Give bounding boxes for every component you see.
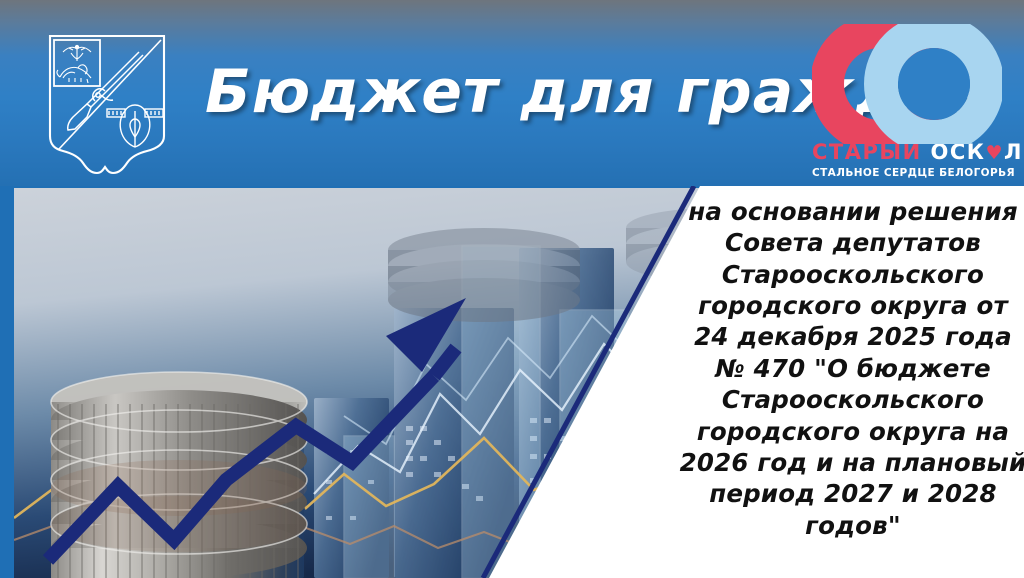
brand-wordmark: СТАРЫЙ ОСК♥Л	[812, 142, 1002, 163]
brand-logo: СТАРЫЙ ОСК♥Л СТАЛЬНОЕ СЕРДЦЕ БЕЛОГОРЬЯ	[812, 24, 1002, 179]
brand-tagline: СТАЛЬНОЕ СЕРДЦЕ БЕЛОГОРЬЯ	[812, 167, 1002, 179]
decree-line: Совета депутатов	[725, 227, 981, 258]
page-title: Бюджет для граждан	[205, 46, 825, 138]
decree-line: 24 декабря 2025 года	[694, 321, 1012, 352]
brand-rings-icon	[812, 24, 1002, 144]
decree-line: годов"	[805, 510, 901, 541]
decree-line: № 470 "О бюджете	[715, 353, 991, 384]
coat-of-arms-icon	[47, 33, 167, 183]
left-margin-strip	[0, 186, 14, 578]
decree-line: период 2027 и 2028	[709, 478, 997, 509]
poster-header: Бюджет для граждан СТАРЫЙ ОСК♥Л СТАЛЬНОЕ…	[0, 0, 1024, 186]
decree-line: на основании решения	[688, 196, 1018, 227]
brand-word-right-b: Л	[1004, 140, 1023, 164]
decree-line: городского округа на	[697, 416, 1009, 447]
budget-for-citizens-poster: Бюджет для граждан СТАРЫЙ ОСК♥Л СТАЛЬНОЕ…	[0, 0, 1024, 578]
decree-text: на основании решения Совета депутатов Ст…	[692, 190, 1014, 578]
heart-icon: ♥	[985, 142, 1004, 164]
decree-line: Старооскольского	[722, 259, 984, 290]
decree-line: Старооскольского	[722, 384, 984, 415]
decree-line: городского округа от	[698, 290, 1008, 321]
decree-line: 2026 год и на плановый	[680, 447, 1024, 478]
